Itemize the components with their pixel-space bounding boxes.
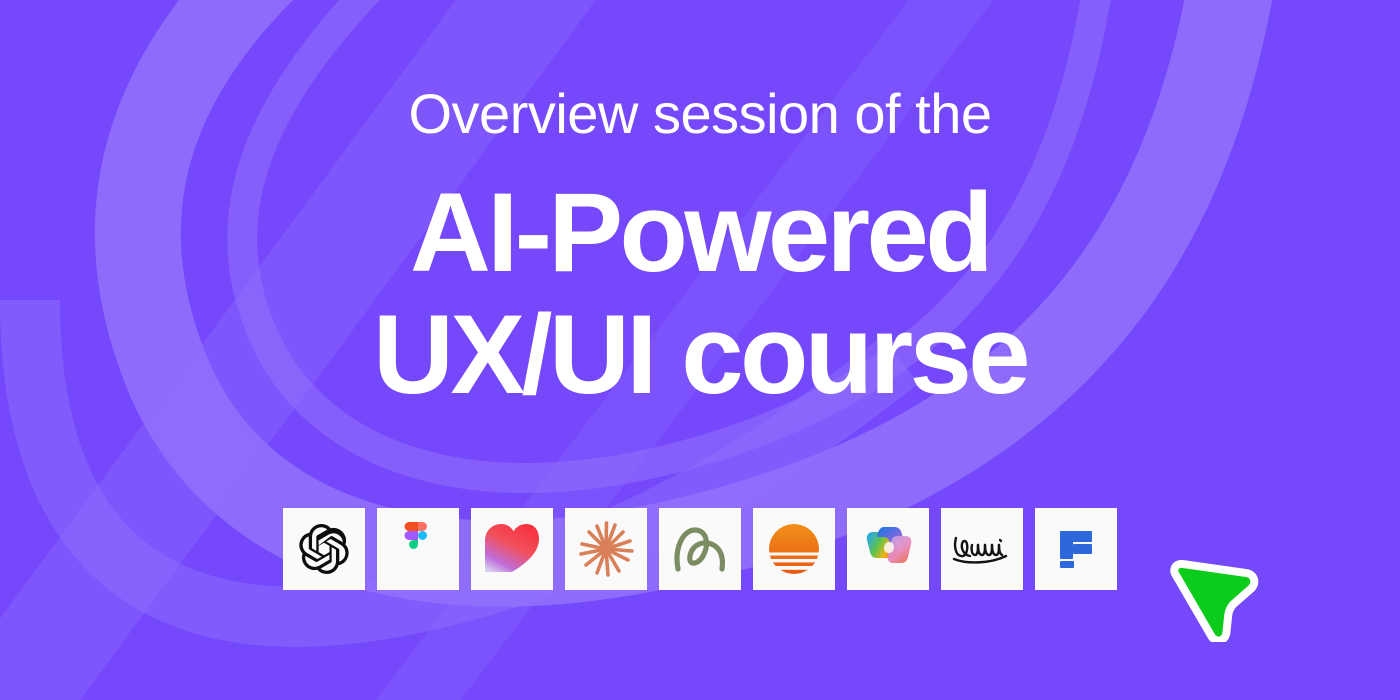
figma-logo bbox=[400, 522, 436, 576]
copilot-logo bbox=[860, 523, 916, 575]
page-title-line-2: UX/UI course bbox=[373, 298, 1027, 412]
tool-logo-strip bbox=[283, 508, 1117, 590]
logo-tile-sunset[interactable] bbox=[753, 508, 835, 590]
logo-tile-openai[interactable] bbox=[283, 508, 365, 590]
logo-tile-squiggle[interactable] bbox=[659, 508, 741, 590]
logo-tile-figma[interactable] bbox=[377, 508, 459, 590]
starburst-logo bbox=[578, 521, 634, 577]
logo-tile-copilot[interactable] bbox=[847, 508, 929, 590]
page-title-line-1: AI-Powered bbox=[410, 176, 990, 290]
lummi-logo bbox=[950, 531, 1014, 567]
openai-logo bbox=[299, 524, 349, 574]
squiggle-logo bbox=[673, 526, 727, 572]
promo-banner: Overview session of the AI-Powered UX/UI… bbox=[0, 0, 1400, 700]
logo-tile-heart[interactable] bbox=[471, 508, 553, 590]
sunset-logo bbox=[767, 522, 821, 576]
logo-tile-lummi[interactable] bbox=[941, 508, 1023, 590]
eyebrow-text: Overview session of the bbox=[409, 86, 992, 142]
framer-f-logo bbox=[1052, 525, 1100, 573]
play-cursor-icon[interactable] bbox=[1168, 546, 1264, 642]
logo-tile-starburst[interactable] bbox=[565, 508, 647, 590]
logo-tile-framer-f[interactable] bbox=[1035, 508, 1117, 590]
heart-logo bbox=[484, 523, 540, 575]
